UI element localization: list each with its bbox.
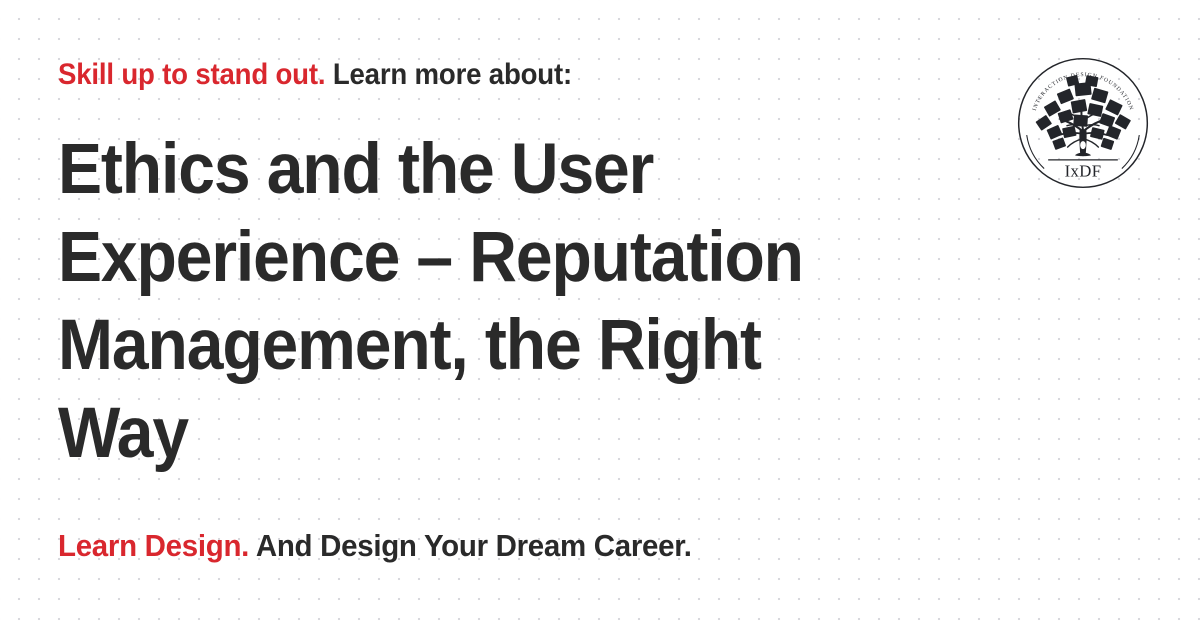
- ixdf-logo: INTERACTION DESIGN FOUNDATION: [1016, 56, 1150, 190]
- logo-flourish-right-icon: [1122, 135, 1139, 169]
- eyebrow-accent-text: Skill up to stand out.: [58, 58, 325, 91]
- promo-banner: Skill up to stand out. Learn more about:…: [0, 0, 1200, 630]
- logo-flourish-left-icon: [1027, 135, 1044, 169]
- eyebrow-rest-text: Learn more about:: [325, 58, 572, 91]
- headline-line: Experience – Reputation: [58, 214, 895, 302]
- tagline-accent-text: Learn Design.: [58, 528, 249, 563]
- headline-line: Management, the Right: [58, 302, 895, 390]
- logo-wordmark: IxDF: [1065, 162, 1102, 181]
- ixdf-seal-icon: INTERACTION DESIGN FOUNDATION: [1016, 56, 1150, 190]
- tagline-rest-text: And Design Your Dream Career.: [249, 528, 692, 563]
- headline-line: Ethics and the User: [58, 126, 895, 214]
- tagline-line: Learn Design. And Design Your Dream Care…: [58, 526, 1008, 566]
- eyebrow-line: Skill up to stand out. Learn more about:: [58, 56, 886, 94]
- page-title: Ethics and the User Experience – Reputat…: [58, 126, 895, 478]
- headline-line: Way: [58, 390, 895, 478]
